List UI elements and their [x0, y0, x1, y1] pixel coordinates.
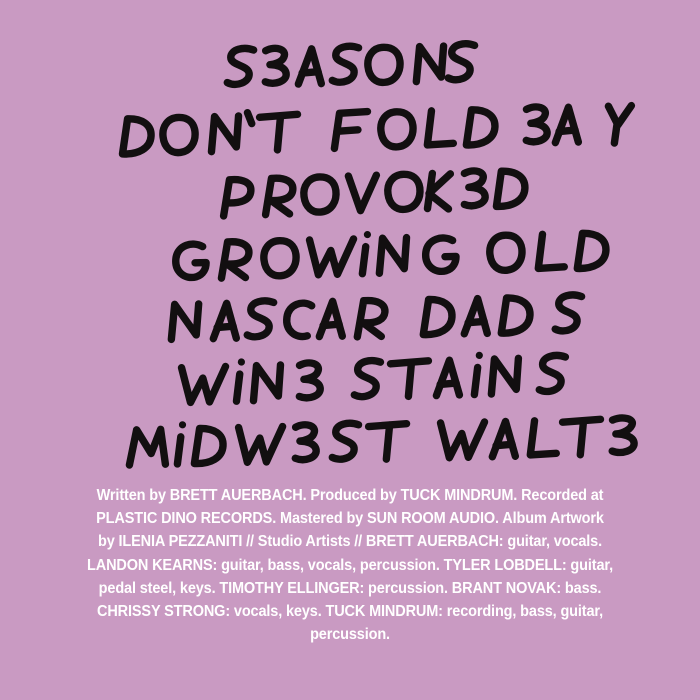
track-lettering-seasons	[222, 37, 478, 97]
track-lettering-nascar-dads	[161, 290, 539, 350]
track-line-nascar-dads: NASCAR DADS	[0, 287, 700, 353]
track-line-midwest-waltz: MIDWEST WALTZ	[0, 411, 700, 477]
credits-text: Written by BRETT AUERBACH. Produced by T…	[87, 484, 613, 646]
track-lettering-wine-stains	[172, 352, 528, 412]
track-lettering-growing-old	[165, 228, 535, 288]
album-back-cover: SEASONS	[0, 0, 700, 700]
track-line-wine-stains: WINE STAINS	[0, 349, 700, 415]
track-lettering-dont-fold-easy	[112, 102, 588, 162]
tracklist: SEASONS	[0, 0, 700, 478]
track-lettering-midwest-waltz	[119, 414, 581, 474]
credits-block: Written by BRETT AUERBACH. Produced by T…	[67, 484, 633, 646]
track-line-growing-old: GROWING OLD	[0, 225, 700, 291]
track-line-dont-fold-easy: DON'T FOLD EASY	[0, 99, 700, 165]
track-lettering-provoked	[213, 165, 487, 225]
track-line-seasons: SEASONS	[0, 34, 700, 100]
track-line-provoked: PROVOKED	[0, 162, 700, 228]
